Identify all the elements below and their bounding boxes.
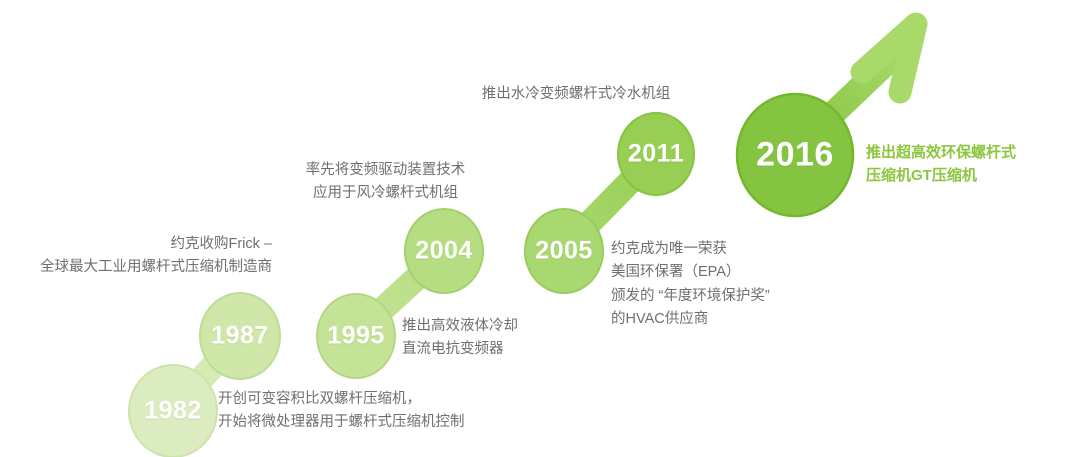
description-line: 约克成为唯一荣获 [611,238,770,261]
milestone-description-2016: 推出超高效环保螺杆式 压缩机GT压缩机 [866,141,1016,188]
description-line: 颁发的 “年度环境保护奖” [611,285,770,308]
description-line: 率先将变频驱动装置技术 [278,159,493,182]
description-line: 推出水冷变频螺杆式冷水机组 [456,83,696,106]
milestone-description-2005: 约克成为唯一荣获 美国环保署（EPA） 颁发的 “年度环境保护奖” 的HVAC供… [611,238,770,332]
milestone-description-2011: 推出水冷变频螺杆式冷水机组 [456,83,696,106]
milestone-description-1995: 推出高效液体冷却 直流电抗变频器 [402,315,518,362]
milestone-description-2004: 率先将变频驱动装置技术 应用于风冷螺杆式机组 [278,159,493,206]
timeline-infographic: 1982 1987 1995 2004 2005 2011 2016 开创可变容… [0,0,1080,457]
milestone-description-1982: 开创可变容积比双螺杆压缩机， 开始将微处理器用于螺杆式压缩机控制 [218,388,465,435]
milestone-circle-1987[interactable] [200,293,280,379]
description-line: 约克收购Frick – [0,233,272,256]
description-line: 美国环保署（EPA） [611,261,770,284]
milestone-circle-2011[interactable] [618,113,694,195]
description-line: 推出超高效环保螺杆式 [866,141,1016,164]
milestone-circle-2005[interactable] [525,209,603,293]
milestone-circle-2016[interactable] [737,94,853,216]
milestone-circle-1995[interactable] [317,294,395,378]
description-line: 全球最大工业用螺杆式压缩机制造商 [0,256,272,279]
description-line: 的HVAC供应商 [611,308,770,331]
description-line: 开始将微处理器用于螺杆式压缩机控制 [218,411,465,434]
milestone-description-1987: 约克收购Frick – 全球最大工业用螺杆式压缩机制造商 [0,233,272,280]
description-line: 直流电抗变频器 [402,338,518,361]
description-line: 应用于风冷螺杆式机组 [278,182,493,205]
timeline-graphics [0,0,1080,457]
milestone-circle-1982[interactable] [129,365,217,457]
description-line: 开创可变容积比双螺杆压缩机， [218,388,465,411]
description-line: 压缩机GT压缩机 [866,164,1016,187]
milestone-circle-2004[interactable] [405,209,483,293]
description-line: 推出高效液体冷却 [402,315,518,338]
